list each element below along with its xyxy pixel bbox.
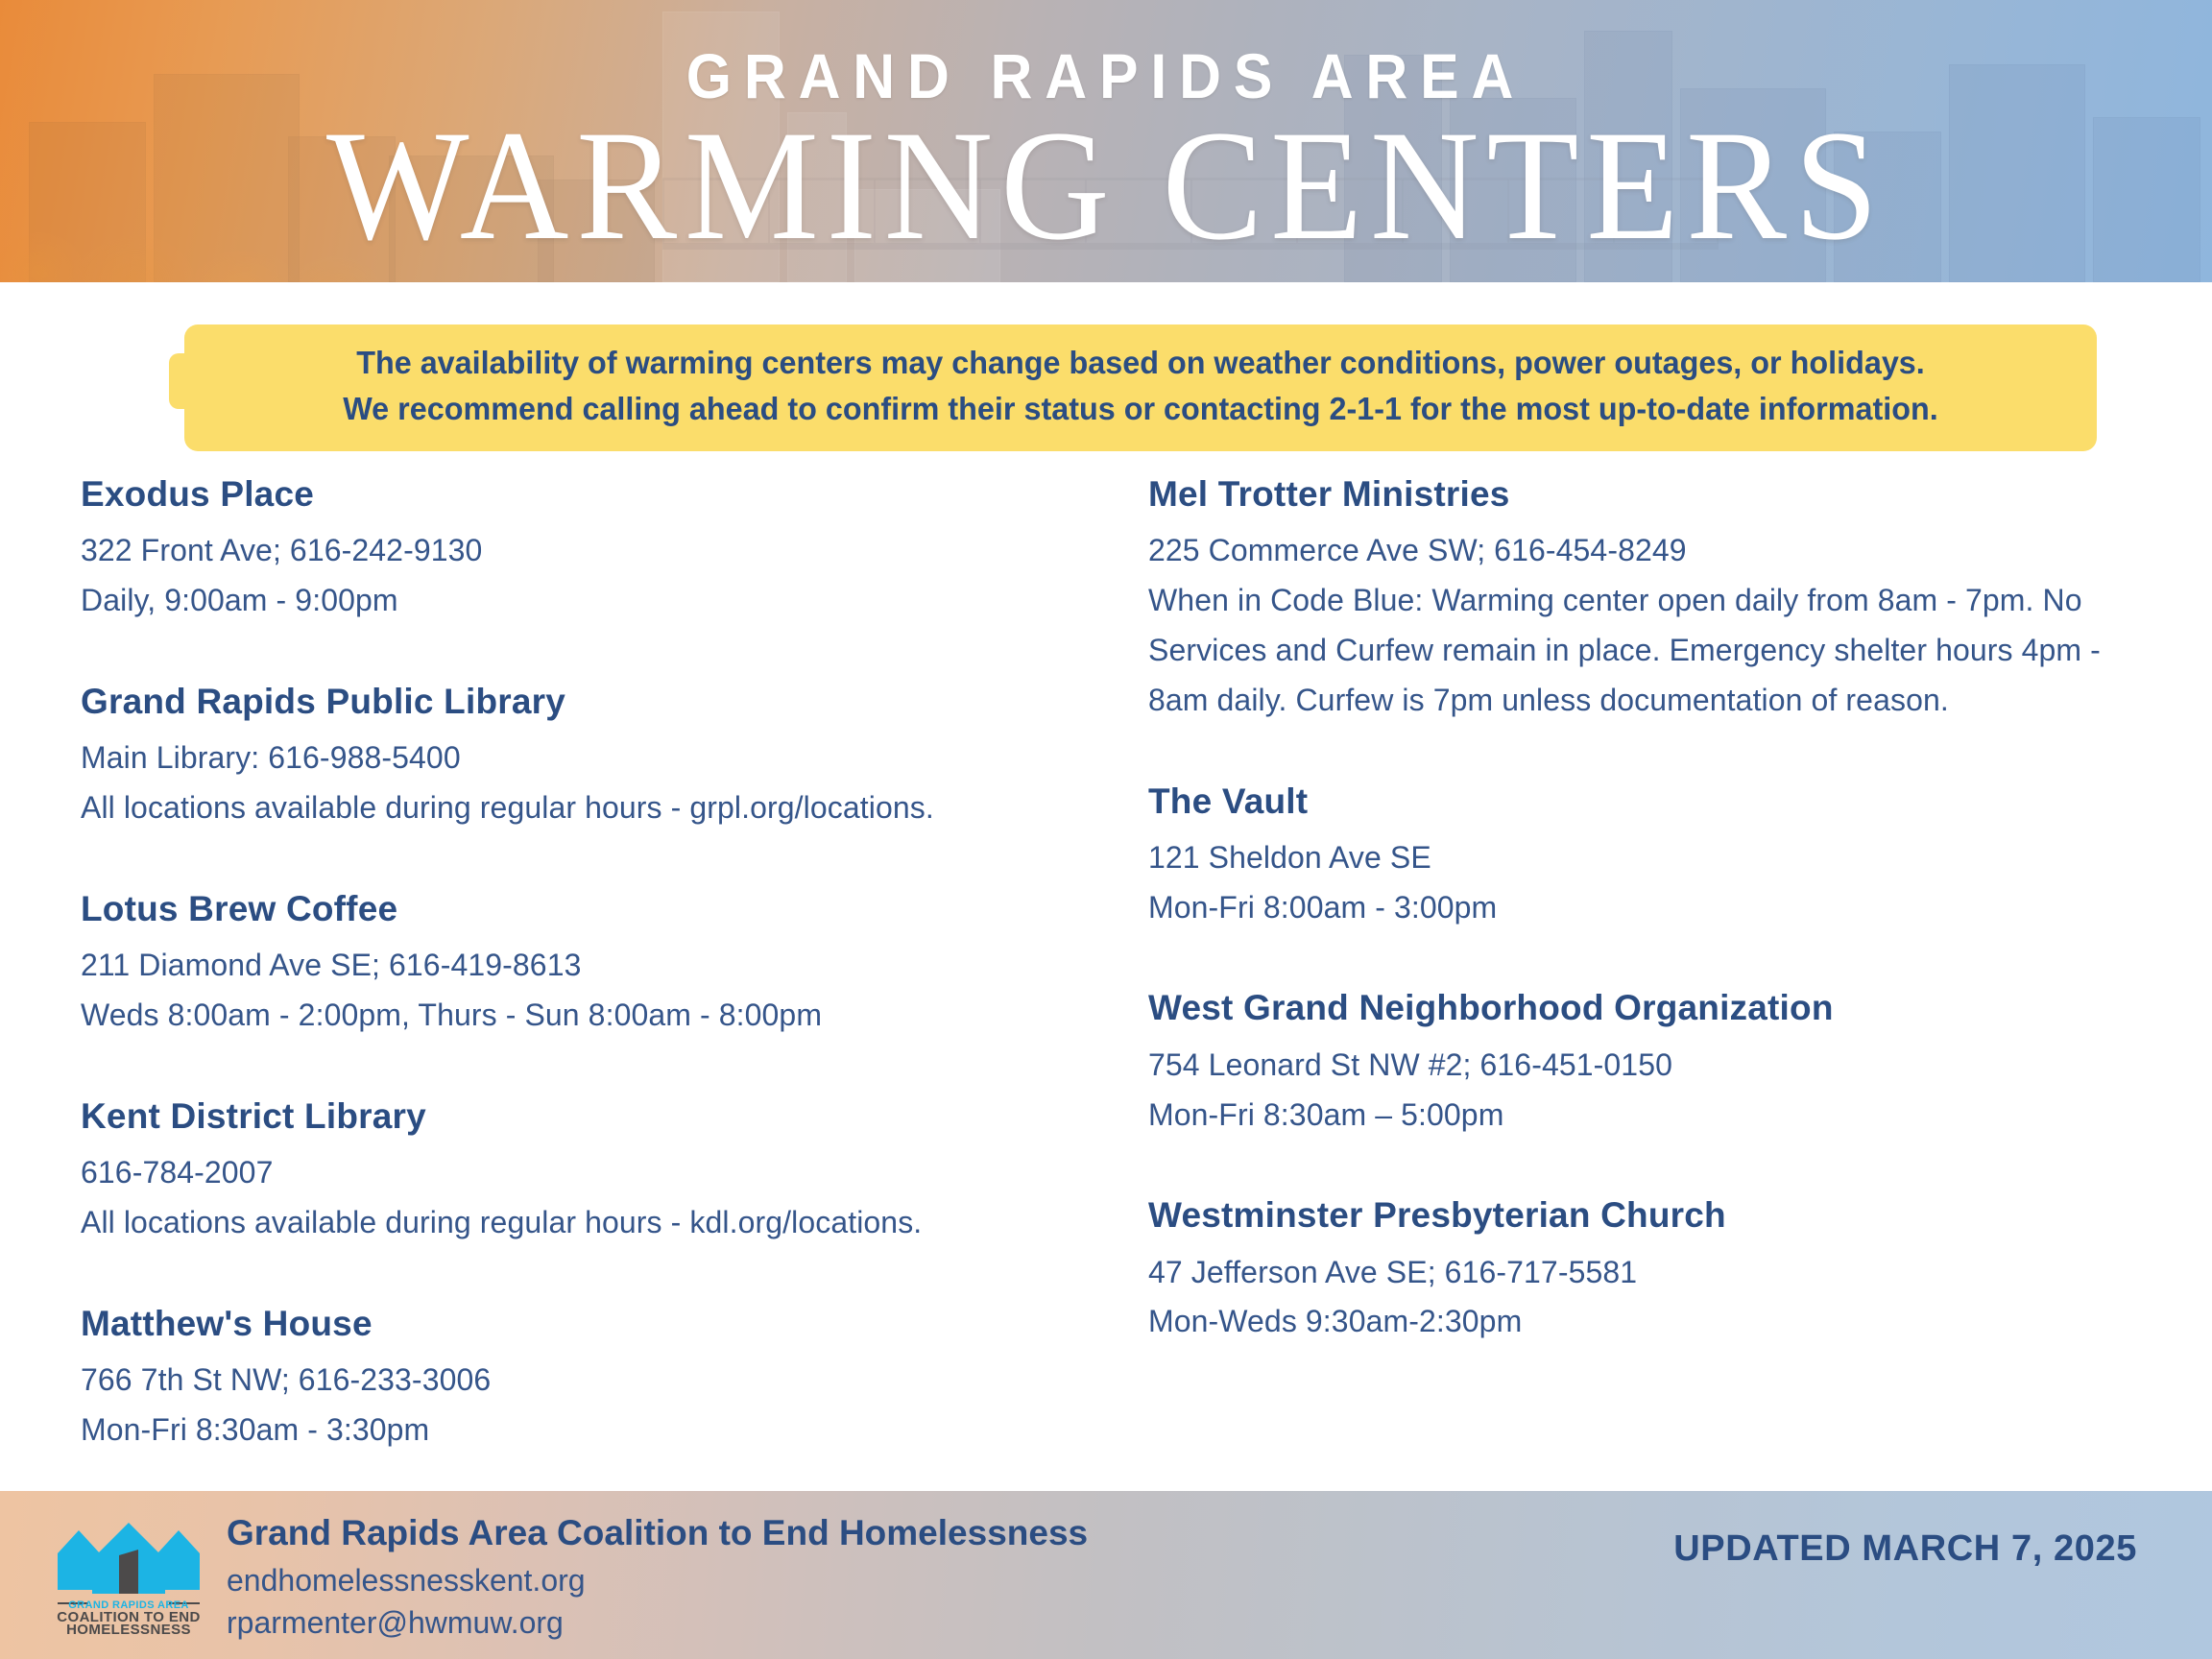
- left-column: Exodus Place 322 Front Ave; 616-242-9130…: [0, 472, 1066, 1490]
- warming-center-listings: Exodus Place 322 Front Ave; 616-242-9130…: [0, 472, 2212, 1490]
- center-detail: 225 Commerce Ave SW; 616-454-8249: [1148, 526, 2145, 576]
- center-detail: Mon-Weds 9:30am-2:30pm: [1148, 1297, 2145, 1347]
- center-name: Kent District Library: [81, 1094, 1037, 1139]
- list-item: West Grand Neighborhood Organization 754…: [1148, 986, 2145, 1140]
- center-detail: Mon-Fri 8:30am – 5:00pm: [1148, 1091, 2145, 1141]
- center-detail: Mon-Fri 8:00am - 3:00pm: [1148, 883, 2145, 933]
- center-detail: 754 Leonard St NW #2; 616-451-0150: [1148, 1041, 2145, 1091]
- notice-banner: The availability of warming centers may …: [184, 325, 2097, 451]
- center-detail: 766 7th St NW; 616-233-3006: [81, 1356, 1037, 1406]
- footer-org-name: Grand Rapids Area Coalition to End Homel…: [227, 1510, 1673, 1555]
- page-header: GRAND RAPIDS AREA WARMING CENTERS: [0, 0, 2212, 282]
- center-name: Matthew's House: [81, 1302, 1037, 1346]
- header-eyebrow: GRAND RAPIDS AREA: [88, 0, 2124, 108]
- center-detail: Weds 8:00am - 2:00pm, Thurs - Sun 8:00am…: [81, 991, 1037, 1041]
- center-detail: 322 Front Ave; 616-242-9130: [81, 526, 1037, 576]
- updated-date: UPDATED MARCH 7, 2025: [1673, 1528, 2137, 1570]
- center-detail: Main Library: 616-988-5400: [81, 733, 1037, 783]
- center-detail: 121 Sheldon Ave SE: [1148, 833, 2145, 883]
- list-item: Westminster Presbyterian Church 47 Jeffe…: [1148, 1193, 2145, 1347]
- page-title: WARMING CENTERS: [44, 109, 2168, 264]
- list-item: Mel Trotter Ministries 225 Commerce Ave …: [1148, 472, 2145, 726]
- center-detail: All locations available during regular h…: [81, 783, 1037, 833]
- notice-line-2: We recommend calling ahead to confirm th…: [228, 386, 2053, 432]
- list-item: Lotus Brew Coffee 211 Diamond Ave SE; 61…: [81, 887, 1037, 1041]
- house-icon: GRAND RAPIDS AREA COALITION TO END HOMEL…: [56, 1511, 202, 1634]
- list-item: The Vault 121 Sheldon Ave SE Mon-Fri 8:0…: [1148, 780, 2145, 933]
- center-detail: 616-784-2007: [81, 1148, 1037, 1198]
- center-name: Grand Rapids Public Library: [81, 680, 1037, 724]
- center-detail: When in Code Blue: Warming center open d…: [1148, 576, 2145, 725]
- center-detail: All locations available during regular h…: [81, 1198, 1037, 1248]
- center-name: Lotus Brew Coffee: [81, 887, 1037, 931]
- center-name: Exodus Place: [81, 472, 1037, 517]
- center-name: Westminster Presbyterian Church: [1148, 1193, 2145, 1238]
- footer-contact-block: Grand Rapids Area Coalition to End Homel…: [227, 1506, 1673, 1645]
- center-detail: 211 Diamond Ave SE; 616-419-8613: [81, 941, 1037, 991]
- center-name: The Vault: [1148, 780, 2145, 824]
- coalition-logo: GRAND RAPIDS AREA COALITION TO END HOMEL…: [56, 1511, 202, 1639]
- list-item: Kent District Library 616-784-2007 All l…: [81, 1094, 1037, 1248]
- center-detail: Mon-Fri 8:30am - 3:30pm: [81, 1406, 1037, 1455]
- list-item: Exodus Place 322 Front Ave; 616-242-9130…: [81, 472, 1037, 626]
- page-footer: GRAND RAPIDS AREA COALITION TO END HOMEL…: [0, 1491, 2212, 1659]
- logo-tagline-line2: HOMELESSNESS: [66, 1622, 191, 1634]
- center-name: West Grand Neighborhood Organization: [1148, 986, 2145, 1030]
- right-column: Mel Trotter Ministries 225 Commerce Ave …: [1066, 472, 2212, 1490]
- list-item: Matthew's House 766 7th St NW; 616-233-3…: [81, 1302, 1037, 1455]
- center-detail: 47 Jefferson Ave SE; 616-717-5581: [1148, 1248, 2145, 1298]
- center-name: Mel Trotter Ministries: [1148, 472, 2145, 517]
- notice-line-1: The availability of warming centers may …: [228, 340, 2053, 386]
- footer-website-link[interactable]: endhomelessnesskent.org: [227, 1559, 1673, 1601]
- center-detail: Daily, 9:00am - 9:00pm: [81, 576, 1037, 626]
- footer-email-link[interactable]: rparmenter@hwmuw.org: [227, 1601, 1673, 1644]
- list-item: Grand Rapids Public Library Main Library…: [81, 680, 1037, 833]
